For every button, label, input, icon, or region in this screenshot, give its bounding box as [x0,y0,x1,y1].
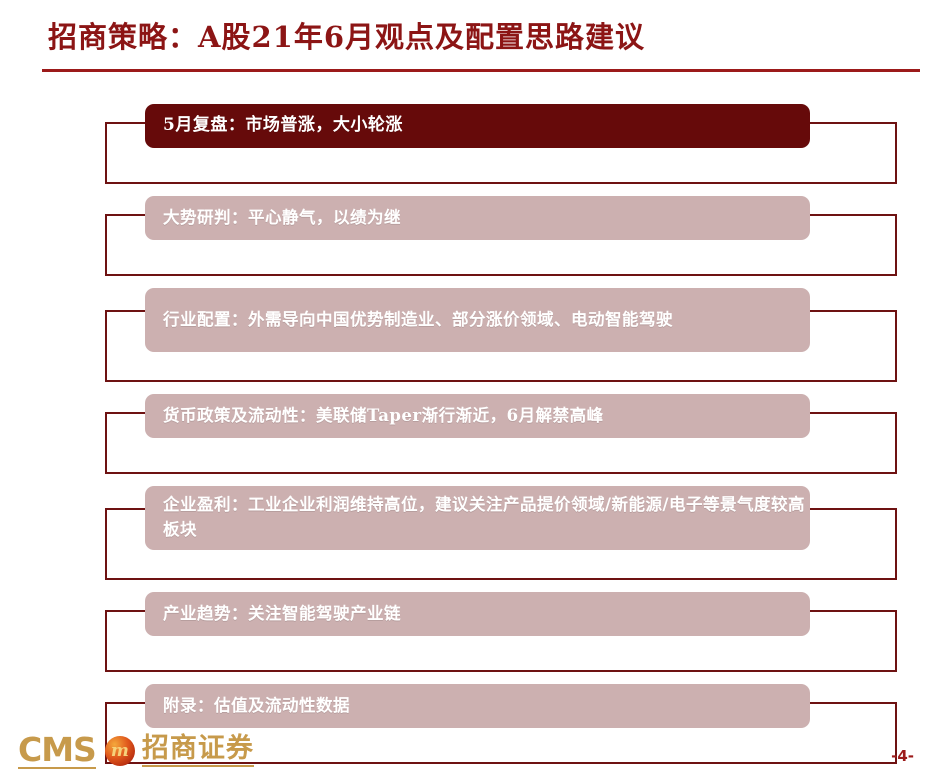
cms-logo: CMS m 招商证券 [18,733,254,769]
agenda-item-box[interactable]: 大势研判：平心静气，以绩为继 [145,196,810,240]
agenda-item-5[interactable]: 企业盈利：工业企业利润维持高位，建议关注产品提价领域/新能源/电子等景气度较高板… [0,486,930,580]
agenda-item-2[interactable]: 大势研判：平心静气，以绩为继 [0,196,930,276]
agenda-item-label: 行业配置：外需导向中国优势制造业、部分涨价领域、电动智能驾驶 [163,308,673,333]
agenda-item-label: 货币政策及流动性：美联储Taper渐行渐近，6月解禁高峰 [163,404,604,429]
footer: CMS m 招商证券 -4- [0,719,930,781]
agenda-item-1[interactable]: 5月复盘：市场普涨，大小轮涨 [0,104,930,184]
agenda-list: 5月复盘：市场普涨，大小轮涨大势研判：平心静气，以绩为继行业配置：外需导向中国优… [0,104,930,704]
page-title: 招商策略：A股21年6月观点及配置思路建议 [48,14,645,56]
cms-emblem-glyph: m [105,736,135,766]
agenda-item-4[interactable]: 货币政策及流动性：美联储Taper渐行渐近，6月解禁高峰 [0,394,930,474]
agenda-item-label: 大势研判：平心静气，以绩为继 [163,206,401,231]
agenda-item-box[interactable]: 行业配置：外需导向中国优势制造业、部分涨价领域、电动智能驾驶 [145,288,810,352]
agenda-item-label: 5月复盘：市场普涨，大小轮涨 [163,113,403,139]
agenda-item-box[interactable]: 5月复盘：市场普涨，大小轮涨 [145,104,810,148]
page-number: -4- [891,747,914,765]
agenda-item-label: 产业趋势：关注智能驾驶产业链 [163,602,401,627]
agenda-item-label: 企业盈利：工业企业利润维持高位，建议关注产品提价领域/新能源/电子等景气度较高板… [163,493,810,543]
agenda-item-box[interactable]: 货币政策及流动性：美联储Taper渐行渐近，6月解禁高峰 [145,394,810,438]
logo-cms-text: CMS [18,733,96,769]
agenda-item-6[interactable]: 产业趋势：关注智能驾驶产业链 [0,592,930,672]
agenda-item-3[interactable]: 行业配置：外需导向中国优势制造业、部分涨价领域、电动智能驾驶 [0,288,930,382]
agenda-item-box[interactable]: 企业盈利：工业企业利润维持高位，建议关注产品提价领域/新能源/电子等景气度较高板… [145,486,810,550]
cms-emblem-icon: m [105,736,135,766]
agenda-item-label: 附录：估值及流动性数据 [163,694,350,719]
agenda-item-box[interactable]: 产业趋势：关注智能驾驶产业链 [145,592,810,636]
title-divider [42,69,920,72]
logo-chinese-text: 招商证券 [142,735,254,766]
